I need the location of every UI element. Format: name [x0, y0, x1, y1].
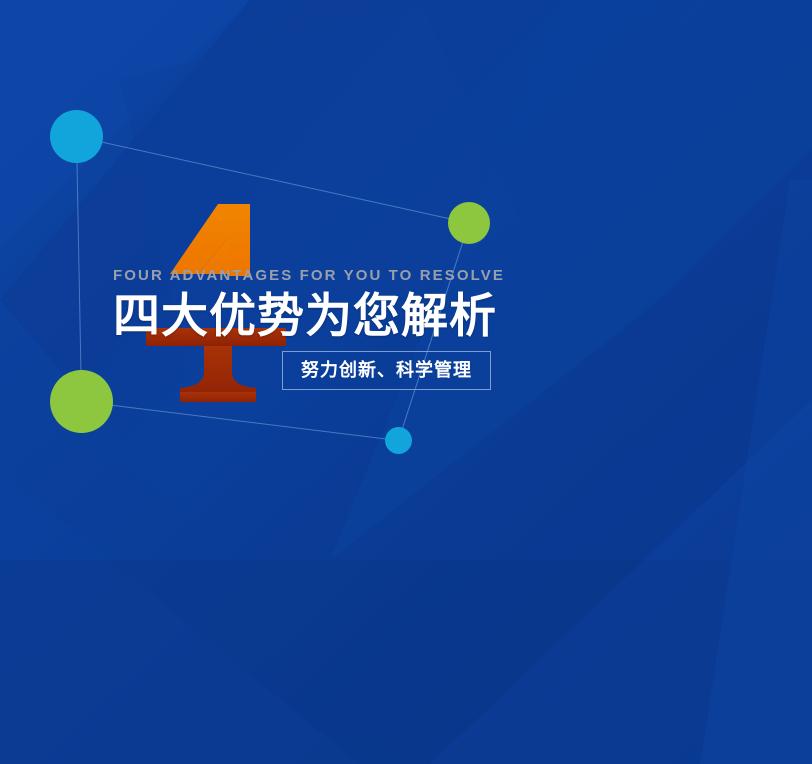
node-circle-right [448, 202, 490, 244]
tagline-badge: 努力创新、科学管理 [282, 351, 491, 390]
eyebrow-text: FOUR ADVANTAGES FOR YOU TO RESOLVE [113, 268, 713, 283]
banner-stage: FOUR ADVANTAGES FOR YOU TO RESOLVE 四大优势为… [0, 0, 812, 764]
tagline-wrapper: 努力创新、科学管理 [282, 351, 491, 390]
headline-block: FOUR ADVANTAGES FOR YOU TO RESOLVE 四大优势为… [113, 268, 713, 340]
page-title: 四大优势为您解析 [113, 291, 713, 340]
node-circle-top-left [50, 110, 103, 163]
node-circle-bottom-mid [385, 427, 412, 454]
node-circle-bottom-left [50, 370, 113, 433]
